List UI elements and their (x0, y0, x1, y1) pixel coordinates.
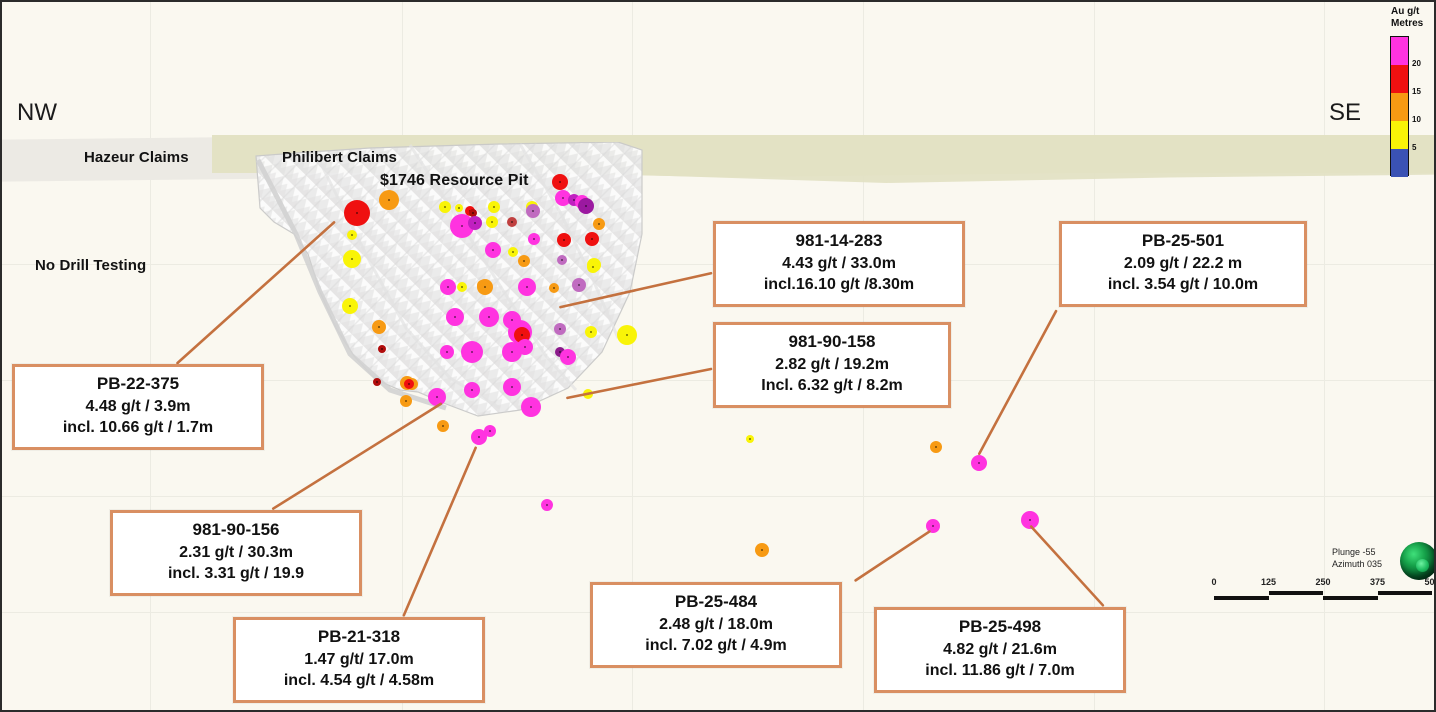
drill-intercept-point (461, 341, 483, 363)
drill-intercept-point (464, 382, 480, 398)
legend-tick-20: 20 (1412, 59, 1421, 68)
azimuth-label: Azimuth 035 (1332, 558, 1382, 570)
drill-intercept-point (521, 397, 541, 417)
orientation-label-se: SE (1329, 99, 1361, 127)
drill-intercept-point (400, 395, 412, 407)
legend-swatch-above-20 (1391, 37, 1408, 65)
drill-intercept-point (528, 233, 540, 245)
drill-intercept-point (440, 279, 456, 295)
orientation-sphere-icon (1400, 542, 1436, 580)
drill-intercept-point (484, 425, 496, 437)
callout-grade-included: incl. 7.02 g/t / 4.9m (605, 635, 827, 656)
scale-tick-125: 125 (1261, 577, 1276, 587)
callout-pb-22-375[interactable]: PB-22-3754.48 g/t / 3.9mincl. 10.66 g/t … (12, 364, 264, 450)
drill-intercept-point (549, 283, 559, 293)
resource-pit-label: $1746 Resource Pit (380, 172, 529, 190)
legend-swatch-5-to-10 (1391, 121, 1408, 149)
callout-pb-25-498[interactable]: PB-25-4984.82 g/t / 21.6mincl. 11.86 g/t… (874, 607, 1126, 693)
no-drill-testing-label: No Drill Testing (35, 257, 146, 274)
callout-grade-main: 4.82 g/t / 21.6m (889, 639, 1111, 660)
callout-hole-id: PB-22-375 (27, 373, 249, 396)
orientation-widget: Plunge -55 Azimuth 035 (1332, 542, 1436, 587)
drill-intercept-point (508, 247, 518, 257)
drill-intercept-point (755, 543, 769, 557)
callout-981-90-156[interactable]: 981-90-1562.31 g/t / 30.3mincl. 3.31 g/t… (110, 510, 362, 596)
drill-intercept-point (342, 298, 358, 314)
callout-grade-included: incl. 3.31 g/t / 19.9 (125, 563, 347, 584)
hazeur-claims-label: Hazeur Claims (84, 149, 189, 166)
callout-pb-25-484[interactable]: PB-25-4842.48 g/t / 18.0mincl. 7.02 g/t … (590, 582, 842, 668)
drill-intercept-point (446, 308, 464, 326)
drill-intercept-point (488, 201, 500, 213)
drill-intercept-point (486, 216, 498, 228)
drill-intercept-point (343, 250, 361, 268)
callout-grade-main: 1.47 g/t/ 17.0m (248, 649, 470, 670)
drill-intercept-point (344, 200, 370, 226)
drill-intercept-point (404, 379, 414, 389)
drill-intercept-point (930, 441, 942, 453)
callout-hole-id: PB-25-484 (605, 591, 827, 614)
drill-intercept-point (926, 519, 940, 533)
drill-intercept-point (437, 420, 449, 432)
legend-swatch-below-5 (1391, 149, 1408, 177)
callout-hole-id: 981-14-283 (728, 230, 950, 253)
legend-title-line2: Metres (1388, 18, 1434, 30)
drill-intercept-point (560, 349, 576, 365)
drill-intercept-point (541, 499, 553, 511)
drill-intercept-point (455, 204, 463, 212)
drill-intercept-point (578, 198, 594, 214)
plunge-label: Plunge -55 (1332, 546, 1382, 558)
drill-intercept-point (485, 242, 501, 258)
longitudinal-section-figure: NW SE Hazeur Claims Philibert Claims $17… (0, 0, 1436, 712)
drill-intercept-point (585, 326, 597, 338)
drill-intercept-point (439, 201, 451, 213)
scale-tick-250: 250 (1315, 577, 1330, 587)
drill-intercept-point (378, 345, 386, 353)
drill-intercept-point (971, 455, 987, 471)
drill-intercept-point (517, 339, 533, 355)
drill-intercept-point (507, 217, 517, 227)
callout-981-14-283[interactable]: 981-14-2834.43 g/t / 33.0mincl.16.10 g/t… (713, 221, 965, 307)
callout-pb-25-501[interactable]: PB-25-5012.09 g/t / 22.2 mincl. 3.54 g/t… (1059, 221, 1307, 307)
drill-intercept-point (583, 389, 593, 399)
drill-intercept-point (518, 278, 536, 296)
callout-981-90-158[interactable]: 981-90-1582.82 g/t / 19.2mIncl. 6.32 g/t… (713, 322, 951, 408)
drill-intercept-point (526, 204, 540, 218)
legend-tick-5: 5 (1412, 143, 1416, 152)
callout-grade-main: 4.43 g/t / 33.0m (728, 253, 950, 274)
drill-intercept-point (593, 218, 605, 230)
drill-intercept-point (552, 174, 568, 190)
callout-grade-included: Incl. 6.32 g/t / 8.2m (728, 375, 936, 396)
scale-tick-0: 0 (1211, 577, 1216, 587)
drill-intercept-point (518, 255, 530, 267)
legend-color-bar (1390, 36, 1409, 176)
drill-intercept-point (572, 278, 586, 292)
drill-intercept-point (1021, 511, 1039, 529)
callout-grade-included: incl. 10.66 g/t / 1.7m (27, 417, 249, 438)
callout-grade-included: incl. 3.54 g/t / 10.0m (1074, 274, 1292, 295)
philibert-claim-band-taper (422, 157, 1436, 179)
legend-tick-15: 15 (1412, 87, 1421, 96)
drill-intercept-point (557, 255, 567, 265)
callout-grade-included: incl. 11.86 g/t / 7.0m (889, 660, 1111, 681)
drill-intercept-point (503, 311, 521, 329)
drill-intercept-point (479, 307, 499, 327)
drill-intercept-point (503, 378, 521, 396)
orientation-label-nw: NW (17, 99, 57, 127)
legend-tick-10: 10 (1412, 115, 1421, 124)
callout-hole-id: 981-90-156 (125, 519, 347, 542)
drill-intercept-point (428, 388, 446, 406)
drill-intercept-point (557, 233, 571, 247)
callout-hole-id: 981-90-158 (728, 331, 936, 354)
drill-intercept-point (617, 325, 637, 345)
callout-grade-main: 2.82 g/t / 19.2m (728, 354, 936, 375)
drill-intercept-point (468, 216, 482, 230)
callout-hole-id: PB-25-498 (889, 616, 1111, 639)
callout-hole-id: PB-25-501 (1074, 230, 1292, 253)
callout-grade-included: incl. 4.54 g/t / 4.58m (248, 670, 470, 691)
philibert-claims-label: Philibert Claims (282, 149, 397, 166)
callout-grade-main: 2.48 g/t / 18.0m (605, 614, 827, 635)
au-grade-color-legend: Au g/t Metres 2015105 (1388, 6, 1434, 206)
callout-grade-main: 2.31 g/t / 30.3m (125, 542, 347, 563)
callout-pb-21-318[interactable]: PB-21-3181.47 g/t/ 17.0mincl. 4.54 g/t /… (233, 617, 485, 703)
drill-intercept-point (347, 230, 357, 240)
drill-intercept-point (585, 232, 599, 246)
legend-swatch-10-to-15 (1391, 93, 1408, 121)
drill-intercept-point (372, 320, 386, 334)
plunge-azimuth-text: Plunge -55 Azimuth 035 (1332, 546, 1382, 570)
drill-intercept-point (373, 378, 381, 386)
drill-intercept-point (440, 345, 454, 359)
drill-intercept-point (554, 323, 566, 335)
callout-grade-main: 2.09 g/t / 22.2 m (1074, 253, 1292, 274)
drill-intercept-point (587, 261, 599, 273)
legend-swatch-15-to-20 (1391, 65, 1408, 93)
scale-bar-ruler (1214, 591, 1432, 600)
callout-grade-included: incl.16.10 g/t /8.30m (728, 274, 950, 295)
drill-intercept-point (746, 435, 754, 443)
legend-title-line1: Au g/t (1388, 6, 1434, 18)
callout-hole-id: PB-21-318 (248, 626, 470, 649)
drill-intercept-point (457, 282, 467, 292)
callout-grade-main: 4.48 g/t / 3.9m (27, 396, 249, 417)
drill-intercept-point (477, 279, 493, 295)
drill-intercept-point (379, 190, 399, 210)
